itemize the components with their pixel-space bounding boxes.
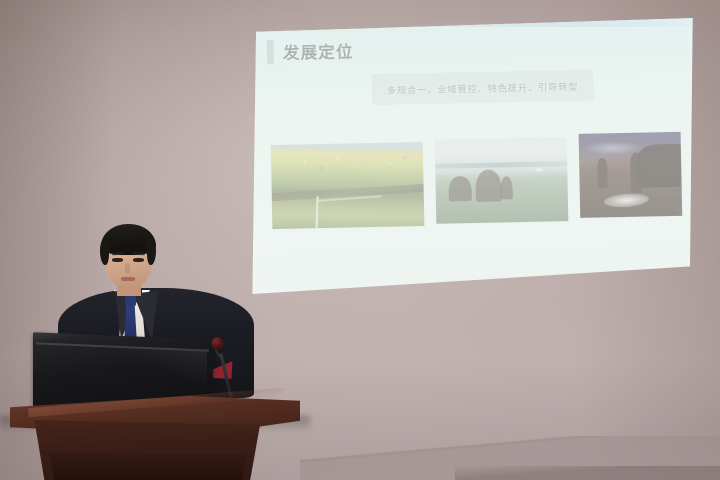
presentation-photo: 发展定位 多规合一、全域管控、特色提升、引导转型 [0,0,720,480]
eye-right [133,258,144,262]
aerial-farmland-photo [271,142,425,229]
title-accent-bar [267,40,274,64]
nose [125,263,130,273]
hair-side-right [147,239,156,265]
slide-subtitle: 多规合一、全域管控、特色提升、引导转型 [387,78,579,96]
dusk-landscape-photo [579,132,683,218]
dark-hillside [636,143,682,188]
mouth [121,277,135,281]
floor-edge-shadow [455,466,720,480]
dusk-figure-left [597,159,607,189]
slide-title: 发展定位 [283,38,354,63]
projection-screen: 发展定位 多规合一、全域管控、特色提升、引导转型 [247,18,699,294]
slide-subtitle-box: 多规合一、全域管控、特色提升、引导转型 [371,70,594,105]
farmland-villages [271,142,425,229]
podium-base [42,452,254,480]
necktie-knot [125,296,136,306]
tree-right [500,176,512,200]
trees-field-photo [435,137,569,224]
hair-side-left [100,239,109,265]
eye-left [112,258,123,262]
slide-photo-strip [271,135,683,227]
slide-title-row: 发展定位 [267,38,354,64]
tree-left [449,176,472,202]
dusk-figure-right [630,153,643,194]
slide-content: 发展定位 多规合一、全域管控、特色提升、引导转型 [244,13,701,298]
microphone-head[interactable] [211,337,224,350]
tree-center [475,170,502,202]
